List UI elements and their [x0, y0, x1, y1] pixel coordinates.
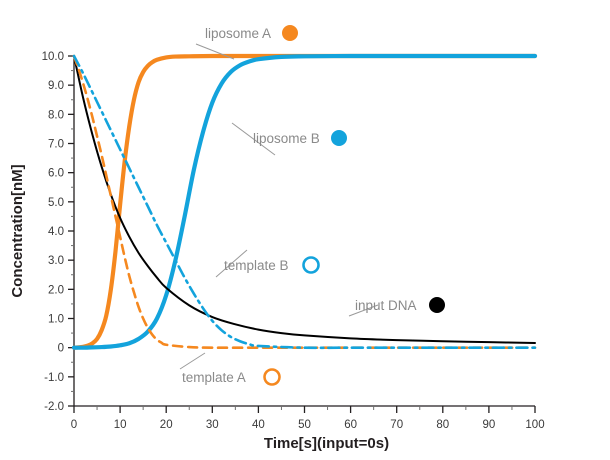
y-tick-label: -2.0	[44, 401, 64, 413]
legend-marker-filled-circle-input-dna	[429, 297, 445, 313]
annotation-label-liposome-b: liposome B	[253, 131, 320, 146]
legend-marker-filled-circle-liposome-b	[331, 130, 347, 146]
concentration-time-plot: 10.09.08.07.06.05.04.03.02.01.00-1.0-2.0…	[0, 0, 610, 460]
y-tick-label: 5.0	[48, 197, 64, 209]
y-tick-label: 0	[58, 343, 64, 355]
y-tick-label: 9.0	[48, 80, 64, 92]
y-tick-label: -1.0	[44, 372, 64, 384]
y-axis-title: Concentration[nM]	[9, 164, 26, 297]
y-tick-label: 2.0	[48, 284, 64, 296]
x-axis-title: Time[s](input=0s)	[264, 435, 389, 452]
annotation-label-template-b: template B	[224, 258, 289, 273]
x-tick-label: 20	[160, 419, 173, 431]
chart-background	[0, 0, 610, 460]
x-tick-label: 50	[298, 419, 311, 431]
legend-marker-filled-circle-liposome-a	[282, 25, 298, 41]
x-tick-label: 30	[206, 419, 219, 431]
x-tick-label: 40	[252, 419, 265, 431]
x-tick-label: 60	[344, 419, 357, 431]
x-tick-label: 90	[483, 419, 496, 431]
chart-container: 10.09.08.07.06.05.04.03.02.01.00-1.0-2.0…	[0, 0, 610, 460]
annotation-label-template-a: template A	[182, 370, 246, 385]
y-tick-label: 7.0	[48, 139, 64, 151]
y-tick-label: 10.0	[42, 51, 64, 63]
y-tick-label: 4.0	[48, 226, 64, 238]
y-tick-label: 6.0	[48, 168, 64, 180]
y-tick-label: 1.0	[48, 314, 64, 326]
x-tick-label: 80	[436, 419, 449, 431]
y-tick-label: 3.0	[48, 255, 64, 267]
y-tick-label: 8.0	[48, 109, 64, 121]
x-tick-label: 10	[114, 419, 127, 431]
x-tick-label: 70	[390, 419, 403, 431]
annotation-label-liposome-a: liposome A	[205, 26, 271, 41]
x-tick-label: 100	[525, 419, 544, 431]
x-tick-label: 0	[71, 419, 77, 431]
annotation-label-input-dna: input DNA	[355, 298, 417, 313]
